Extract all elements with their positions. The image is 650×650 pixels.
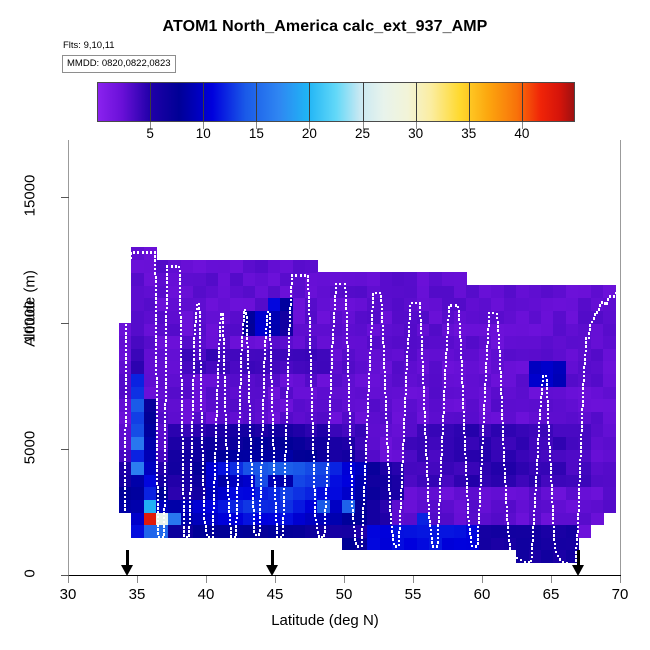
flight-track-dot <box>246 321 248 324</box>
flight-track-dot <box>262 424 264 427</box>
flight-track-dot <box>311 414 313 417</box>
flight-track-dot <box>535 480 537 483</box>
flight-track-dot <box>368 373 370 376</box>
flight-track-dot <box>290 286 292 289</box>
flight-track-dot <box>534 493 536 496</box>
flight-track-dot <box>530 560 532 563</box>
flight-track-dot <box>311 401 313 404</box>
flight-track-dot <box>264 349 266 352</box>
flight-track-dot <box>333 320 335 323</box>
page-title: ATOM1 North_America calc_ext_937_AMP <box>0 18 650 36</box>
flight-track-dot <box>537 442 539 445</box>
flight-track-dot <box>262 407 264 410</box>
flight-track-dot <box>275 515 277 518</box>
flight-track-dot <box>286 408 288 411</box>
flight-track-dot <box>589 328 591 331</box>
flight-track-dot <box>165 382 167 385</box>
flight-track-dot <box>545 375 547 378</box>
flight-track-dot <box>485 375 487 378</box>
flight-track-dot <box>402 443 404 446</box>
flight-track-dot <box>269 330 271 333</box>
flight-track-dot <box>179 270 181 273</box>
flight-track-dot <box>164 449 166 452</box>
flight-track-dot <box>538 426 540 429</box>
flight-track-dot <box>251 472 253 475</box>
flight-track-dot <box>190 488 192 491</box>
flight-track-dot <box>275 502 277 505</box>
flight-track-dot <box>275 506 277 509</box>
flight-track-dot <box>550 480 552 483</box>
flight-track-dot <box>181 383 183 386</box>
flight-track-dot <box>252 505 254 508</box>
flight-track-dot <box>237 466 239 469</box>
flight-track-dot <box>540 396 542 399</box>
flight-track-dot <box>183 522 185 525</box>
flight-track-dot <box>201 416 203 419</box>
flight-track-dot <box>238 437 240 440</box>
flight-track-dot <box>238 420 240 423</box>
flight-track-dot <box>251 476 253 479</box>
flight-track-dot <box>183 530 185 533</box>
flight-track-dot <box>479 496 481 499</box>
flight-track-dot <box>137 251 139 254</box>
flight-track-dot <box>311 409 313 412</box>
flight-track-dot <box>535 476 537 479</box>
flight-track-dot <box>157 511 159 514</box>
flight-track-dot <box>539 409 541 412</box>
flight-track-dot <box>345 295 347 298</box>
flight-track-dot <box>261 453 263 456</box>
flight-track-dot <box>365 448 367 451</box>
flight-track-dot <box>498 338 500 341</box>
flight-track-dot <box>486 349 488 352</box>
flight-track-dot <box>226 468 228 471</box>
flight-track-dot <box>546 383 548 386</box>
flight-track-dot <box>480 471 482 474</box>
flight-track-dot <box>310 367 312 370</box>
flight-track-overlay <box>69 140 621 575</box>
flight-track-dot <box>248 392 250 395</box>
flight-track-dot <box>463 415 465 418</box>
flight-track-dot <box>181 400 183 403</box>
flight-track-dot <box>498 346 500 349</box>
flight-track-dot <box>506 510 508 513</box>
flight-track-dot <box>202 450 204 453</box>
flight-track-dot <box>469 528 471 531</box>
flight-track-dot <box>480 467 482 470</box>
flight-track-dot <box>351 505 353 508</box>
flight-track-dot <box>166 307 168 310</box>
flight-track-dot <box>217 372 219 375</box>
flight-track-dot <box>246 329 248 332</box>
flight-track-dot <box>230 527 232 530</box>
flight-track-dot <box>579 467 581 470</box>
flight-track-dot <box>408 322 410 325</box>
flight-track-dot <box>285 425 287 428</box>
flight-track-dot <box>179 312 181 315</box>
flight-track-dot <box>289 311 291 314</box>
flight-track-dot <box>350 459 352 462</box>
flight-track-dot <box>309 325 311 328</box>
flight-track-dot <box>272 443 274 446</box>
flight-track-dot <box>308 304 310 307</box>
flight-track-dot <box>462 398 464 401</box>
flight-track-dot <box>250 438 252 441</box>
flight-track-dot <box>157 499 159 502</box>
flight-track-dot <box>331 350 333 353</box>
flight-track-dot <box>189 518 191 521</box>
flight-track-dot <box>483 408 485 411</box>
flight-track-dot <box>182 467 184 470</box>
flight-track-dot <box>505 497 507 500</box>
flight-track-dot <box>316 527 318 530</box>
flight-track-dot <box>200 391 202 394</box>
flight-track-dot <box>421 348 423 351</box>
flight-track-dot <box>487 333 489 336</box>
flight-track-dot <box>314 498 316 501</box>
flight-track-dot <box>271 406 273 409</box>
flight-track-dot <box>276 531 278 534</box>
flight-track-dot <box>388 484 390 487</box>
flight-track-dot <box>443 390 445 393</box>
flight-track-dot <box>464 440 466 443</box>
flight-track-dot <box>125 349 127 352</box>
flight-track-dot <box>199 349 201 352</box>
flight-track-dot <box>462 394 464 397</box>
flight-track-dot <box>236 491 238 494</box>
flight-track-dot <box>291 278 293 281</box>
flight-track-dot <box>388 467 390 470</box>
flight-track-dot <box>248 396 250 399</box>
flight-track-dot <box>483 404 485 407</box>
flight-track-dot <box>246 316 248 319</box>
flight-track-dot <box>309 342 311 345</box>
flight-track-dot <box>371 322 373 325</box>
flight-track-dot <box>329 408 331 411</box>
flight-track-dot <box>239 403 241 406</box>
flight-track-dot <box>582 400 584 403</box>
flight-track-dot <box>208 536 210 539</box>
flight-track-dot <box>335 291 337 294</box>
flight-track-dot <box>249 405 251 408</box>
flight-track-dot <box>237 462 239 465</box>
flight-track-dot <box>335 287 337 290</box>
flight-track-dot <box>401 477 403 480</box>
flight-track-dot <box>190 480 192 483</box>
flight-track-dot <box>335 283 337 286</box>
flight-track-dot <box>225 435 227 438</box>
flight-track-dot <box>312 435 314 438</box>
flight-track-dot <box>507 531 509 534</box>
flight-track-dot <box>467 503 469 506</box>
flight-track-dot <box>361 541 363 544</box>
flight-track-dot <box>157 490 159 493</box>
flight-track-dot <box>404 410 406 413</box>
flight-track-dot <box>349 425 351 428</box>
flight-track-dot <box>546 396 548 399</box>
flight-track-dot <box>228 510 230 513</box>
flight-track-dot <box>366 423 368 426</box>
flight-track-dot <box>180 320 182 323</box>
flight-track-dot <box>156 385 158 388</box>
flight-track-dot <box>617 288 619 291</box>
flight-track-dot <box>155 327 157 330</box>
flight-track-dot <box>249 430 251 433</box>
flight-track-dot <box>345 303 347 306</box>
flight-track-dot <box>165 399 167 402</box>
flight-track-dot <box>448 315 450 318</box>
flight-track-dot <box>330 387 332 390</box>
flight-track-dot <box>399 519 401 522</box>
flight-track-dot <box>557 555 559 558</box>
flight-track-dot <box>351 484 353 487</box>
flight-track-dot <box>224 405 226 408</box>
flight-track-dot <box>260 483 262 486</box>
flight-track-dot <box>155 285 157 288</box>
flight-track-dot <box>192 408 194 411</box>
flight-track-dot <box>212 515 214 518</box>
flight-track-dot <box>193 354 195 357</box>
flight-track-dot <box>546 392 548 395</box>
flight-track-dot <box>351 501 353 504</box>
flight-track-dot <box>156 402 158 405</box>
colorbar-tick-label: 20 <box>302 126 317 141</box>
flight-track-dot <box>288 328 290 331</box>
flight-track-dot <box>155 293 157 296</box>
flight-track-dot <box>156 457 158 460</box>
flight-track-dot <box>239 416 241 419</box>
flight-track-dot <box>353 522 355 525</box>
y-axis-label: Altitude (m) <box>22 239 39 379</box>
flight-track-dot <box>263 395 265 398</box>
flight-track-dot <box>349 442 351 445</box>
flight-track-dot <box>488 324 490 327</box>
flight-track-dot <box>578 484 580 487</box>
flight-track-dot <box>313 456 315 459</box>
flight-track-dot <box>387 463 389 466</box>
flight-track-dot <box>578 496 580 499</box>
flight-track-dot <box>461 377 463 380</box>
flight-track-dot <box>577 526 579 529</box>
colorbar-tick <box>522 82 523 122</box>
flight-track-dot <box>286 404 288 407</box>
flight-track-dot <box>599 304 601 307</box>
flight-track-dot <box>155 343 157 346</box>
arrow-head <box>266 565 278 576</box>
flight-track-dot <box>383 362 385 365</box>
x-axis-tick <box>413 576 414 583</box>
flight-track-dot <box>212 528 214 531</box>
flight-track-dot <box>368 381 370 384</box>
flight-track-dot <box>347 370 349 373</box>
x-axis-tick-label: 70 <box>612 586 629 603</box>
flight-track-dot <box>126 307 128 310</box>
flight-track-dot <box>347 375 349 378</box>
flight-track-dot <box>215 431 217 434</box>
flight-track-dot <box>242 332 244 335</box>
flight-track-dot <box>182 446 184 449</box>
flight-track-dot <box>309 321 311 324</box>
flight-track-dot <box>324 509 326 512</box>
flight-track-dot <box>166 277 168 280</box>
flight-track-dot <box>201 433 203 436</box>
flight-track-dot <box>382 337 384 340</box>
flight-track-dot <box>425 449 427 452</box>
flight-track-dot <box>475 545 477 548</box>
flight-track-dot <box>165 328 167 331</box>
flight-track-dot <box>165 311 167 314</box>
x-axis-tick-label: 35 <box>129 586 146 603</box>
flight-track-dot <box>130 252 132 255</box>
flight-track-dot <box>223 338 225 341</box>
flight-track-dot <box>182 463 184 466</box>
flight-track-dot <box>484 400 486 403</box>
flight-track-dot <box>442 428 444 431</box>
flight-track-dot <box>158 536 160 539</box>
flight-track-dot <box>270 351 272 354</box>
flight-track-dot <box>440 461 442 464</box>
flight-track-dot <box>426 462 428 465</box>
colorbar-tick <box>150 82 151 122</box>
colorbar-tick-label: 5 <box>146 126 154 141</box>
flight-track-dot <box>537 447 539 450</box>
flight-track-dot <box>362 524 364 527</box>
flight-track-dot <box>180 350 182 353</box>
flight-track-dot <box>182 476 184 479</box>
flight-track-dot <box>217 368 219 371</box>
flight-track-dot <box>425 436 427 439</box>
flight-track-dot <box>382 329 384 332</box>
flight-track-dot <box>253 509 255 512</box>
flight-track-dot <box>419 311 421 314</box>
flight-track-dot <box>164 412 166 415</box>
flight-track-dot <box>212 523 214 526</box>
flight-track-dot <box>547 417 549 420</box>
flight-track-dot <box>500 371 502 374</box>
flight-track-dot <box>450 304 452 307</box>
flight-track-dot <box>448 310 450 313</box>
flight-track-dot <box>274 498 276 501</box>
flight-track-dot <box>258 533 260 536</box>
flight-track-dot <box>312 447 314 450</box>
flight-track-dot <box>481 454 483 457</box>
flight-track-dot <box>225 443 227 446</box>
flight-track-dot <box>520 559 522 562</box>
flight-track-dot <box>215 435 217 438</box>
flight-track-dot <box>310 359 312 362</box>
flight-track-dot <box>371 310 373 313</box>
flight-track-dot <box>165 340 167 343</box>
flight-track-dot <box>282 525 284 528</box>
flight-track-dot <box>546 387 548 390</box>
flight-track-dot <box>421 344 423 347</box>
colorbar-tick <box>203 82 204 122</box>
flight-track-dot <box>182 471 184 474</box>
flight-track-dot <box>466 478 468 481</box>
flight-track-dot <box>166 281 168 284</box>
flight-track-dot <box>362 511 364 514</box>
flight-track-dot <box>180 333 182 336</box>
flight-track-dot <box>191 434 193 437</box>
flight-track-dot <box>539 417 541 420</box>
flight-track-dot <box>513 554 515 557</box>
flight-track-dot <box>237 483 239 486</box>
flight-track-dot <box>213 498 215 501</box>
flight-track-dot <box>388 480 390 483</box>
flight-track-dot <box>282 530 284 533</box>
flight-track-dot <box>181 434 183 437</box>
flight-track-dot <box>385 396 387 399</box>
flight-track-dot <box>580 438 582 441</box>
flight-track-dot <box>461 381 463 384</box>
flight-track-dot <box>325 505 327 508</box>
flight-track-dot <box>462 402 464 405</box>
flight-track-dot <box>537 455 539 458</box>
flight-track-dot <box>129 265 131 268</box>
flight-track-dot <box>155 373 157 376</box>
flight-track-dot <box>381 304 383 307</box>
flight-track-dot <box>401 464 403 467</box>
flight-track-dot <box>125 324 127 327</box>
y-axis-tick-label: 5000 <box>22 419 39 475</box>
flight-track-dot <box>581 429 583 432</box>
flight-track-dot <box>157 503 159 506</box>
flight-track-dot <box>276 523 278 526</box>
x-axis-tick-label: 65 <box>543 586 560 603</box>
flight-track-dot <box>327 455 329 458</box>
flight-track-dot <box>471 545 473 548</box>
flight-track-dot <box>580 455 582 458</box>
flight-track-dot <box>372 301 374 304</box>
flight-track-dot <box>460 339 462 342</box>
flight-track-dot <box>165 336 167 339</box>
flight-track-dot <box>264 340 266 343</box>
flight-track-dot <box>402 456 404 459</box>
flight-track-dot <box>606 302 608 305</box>
flight-track-dot <box>537 451 539 454</box>
flight-track-dot <box>538 422 540 425</box>
flight-track-dot <box>437 541 439 544</box>
flight-track-dot <box>385 417 387 420</box>
flight-track-dot <box>125 420 127 423</box>
flight-track-dot <box>200 408 202 411</box>
flight-track-dot <box>578 505 580 508</box>
flight-track-dot <box>163 512 165 515</box>
flight-track-dot <box>370 348 372 351</box>
flight-track-dot <box>216 406 218 409</box>
flight-track-dot <box>223 351 225 354</box>
flight-track-dot <box>262 403 264 406</box>
flight-track-dot <box>200 378 202 381</box>
flight-track-dot <box>127 303 129 306</box>
flight-track-dot <box>214 465 216 468</box>
flight-track-dot <box>334 299 336 302</box>
flight-track-dot <box>509 547 511 550</box>
flight-track-dot <box>155 289 157 292</box>
flight-track-dot <box>191 442 193 445</box>
flight-track-dot <box>488 312 490 315</box>
flight-track-dot <box>124 483 126 486</box>
flight-track-dot <box>536 468 538 471</box>
flight-track-dot <box>469 532 471 535</box>
flight-track-dot <box>385 400 387 403</box>
flight-track-dot <box>163 521 165 524</box>
flight-track-dot <box>480 484 482 487</box>
flight-track-dot <box>479 488 481 491</box>
flight-track-dot <box>386 442 388 445</box>
flight-track-dot <box>327 446 329 449</box>
flight-track-dot <box>124 492 126 495</box>
